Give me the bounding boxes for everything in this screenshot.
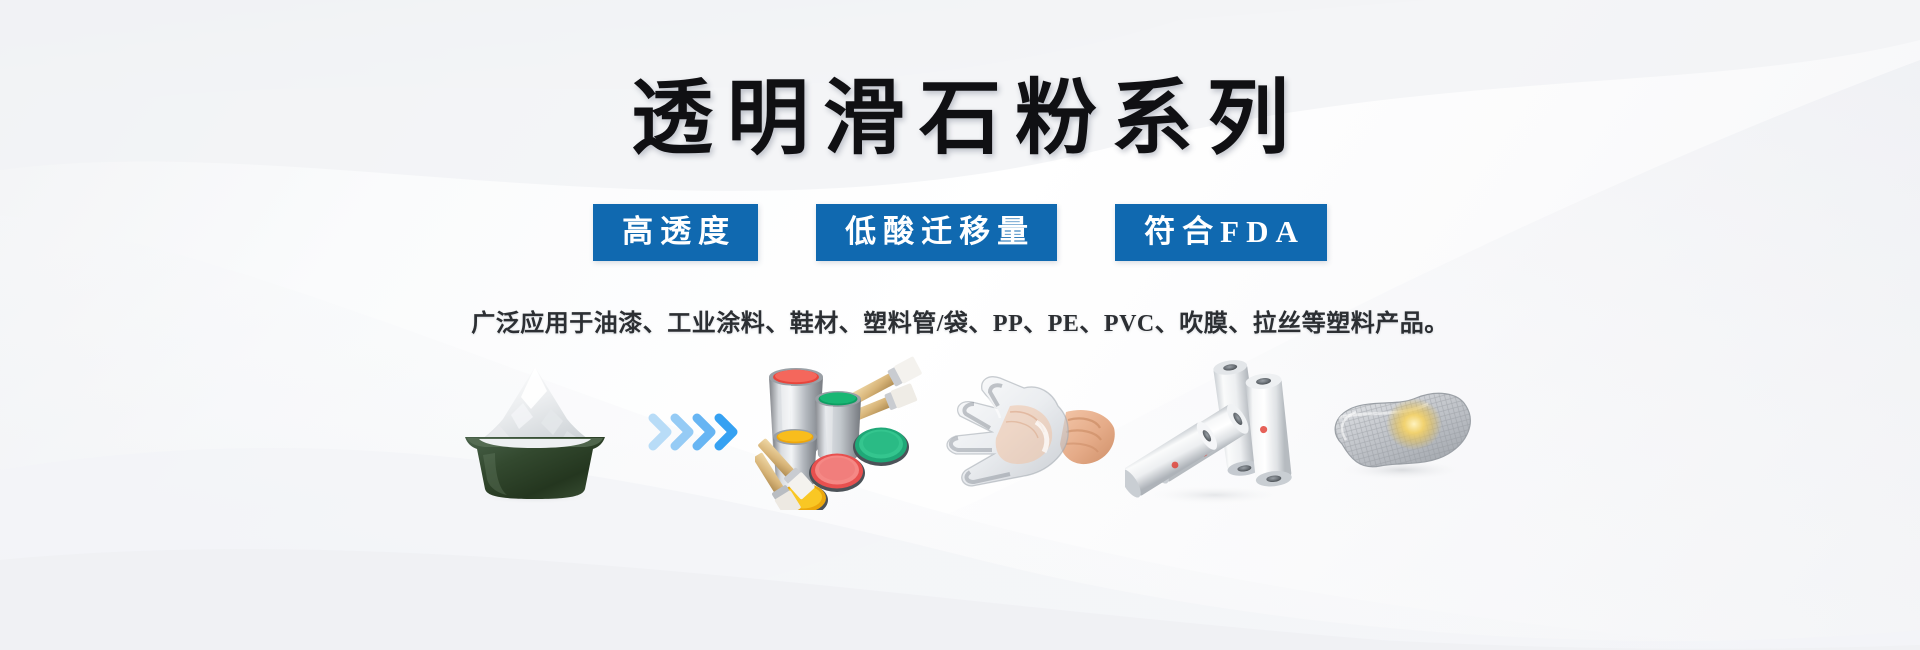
banner-content: 透明滑石粉系列 高透度 低酸迁移量 符合FDA 广泛应用于油漆、工业涂料、鞋材、… bbox=[0, 0, 1920, 650]
paint-cans-image bbox=[750, 355, 935, 510]
feature-badge-list: 高透度 低酸迁移量 符合FDA bbox=[593, 204, 1327, 261]
process-arrows-icon bbox=[640, 355, 750, 510]
page-title: 透明滑石粉系列 bbox=[617, 78, 1303, 160]
product-application-strip bbox=[0, 352, 1920, 512]
application-description: 广泛应用于油漆、工业涂料、鞋材、塑料管/袋、PP、PE、PVC、吹膜、拉丝等塑料… bbox=[471, 303, 1448, 338]
talc-powder-bowl-image bbox=[430, 355, 640, 510]
badge-high-transparency[interactable]: 高透度 bbox=[593, 204, 758, 261]
plastic-gloves-image bbox=[935, 355, 1120, 510]
plastic-film-rolls-image bbox=[1120, 355, 1305, 510]
shoe-sole-image bbox=[1305, 355, 1490, 510]
product-banner: 透明滑石粉系列 高透度 低酸迁移量 符合FDA 广泛应用于油漆、工业涂料、鞋材、… bbox=[0, 0, 1920, 650]
badge-low-acid-migration[interactable]: 低酸迁移量 bbox=[816, 204, 1057, 261]
badge-fda-compliant[interactable]: 符合FDA bbox=[1115, 204, 1327, 261]
